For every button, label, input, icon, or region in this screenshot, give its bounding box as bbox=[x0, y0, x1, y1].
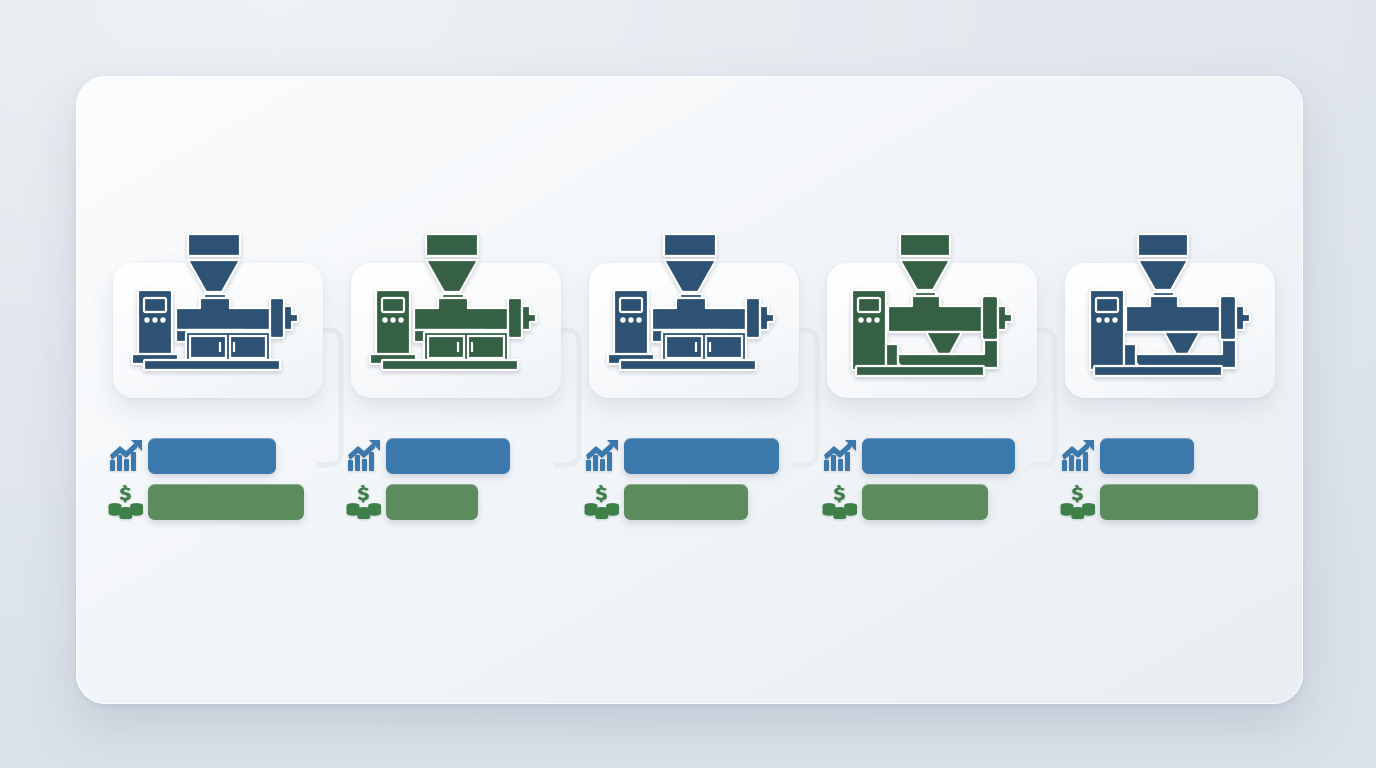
stage-2-cost-row bbox=[342, 483, 478, 521]
growth-chart-icon bbox=[1056, 437, 1100, 475]
money-coins-icon bbox=[818, 483, 862, 521]
stage-4-cost-bar bbox=[862, 484, 988, 520]
stage-5-rate-row bbox=[1056, 437, 1194, 475]
stage-3-cost-row bbox=[580, 483, 748, 521]
growth-chart-icon bbox=[580, 437, 624, 475]
extruder-machine-icon bbox=[358, 232, 554, 384]
stage-1-cost-bar bbox=[148, 484, 304, 520]
stage-3-group[interactable] bbox=[580, 0, 820, 768]
stage-3-metrics bbox=[580, 437, 820, 527]
stage-5-cost-bar bbox=[1100, 484, 1258, 520]
stage-2-cost-bar bbox=[386, 484, 478, 520]
stage-3-rate-row bbox=[580, 437, 779, 475]
growth-chart-icon bbox=[104, 437, 148, 475]
stage-2-group[interactable] bbox=[342, 0, 582, 768]
extruder-machine-icon bbox=[596, 232, 792, 384]
stage-3-cost-bar bbox=[624, 484, 748, 520]
money-coins-icon bbox=[580, 483, 624, 521]
extruder-machine-hose-icon bbox=[834, 232, 1030, 384]
stage-4-rate-row bbox=[818, 437, 1015, 475]
stage-1-rate-bar bbox=[148, 438, 276, 474]
stage-5-group[interactable] bbox=[1056, 0, 1296, 768]
stage-3-rate-bar bbox=[624, 438, 779, 474]
stage-1-group[interactable] bbox=[104, 0, 344, 768]
stage-4-metrics bbox=[818, 437, 1058, 527]
infographic-canvas bbox=[0, 0, 1376, 768]
stage-2-rate-row bbox=[342, 437, 510, 475]
extruder-machine-icon bbox=[120, 232, 316, 384]
money-coins-icon bbox=[1056, 483, 1100, 521]
stage-2-metrics bbox=[342, 437, 582, 527]
stage-1-cost-row bbox=[104, 483, 304, 521]
money-coins-icon bbox=[104, 483, 148, 521]
stage-5-metrics bbox=[1056, 437, 1296, 527]
growth-chart-icon bbox=[342, 437, 386, 475]
stage-1-metrics bbox=[104, 437, 344, 527]
money-coins-icon bbox=[342, 483, 386, 521]
stage-4-cost-row bbox=[818, 483, 988, 521]
stage-5-rate-bar bbox=[1100, 438, 1194, 474]
growth-chart-icon bbox=[818, 437, 862, 475]
stage-1-rate-row bbox=[104, 437, 276, 475]
stage-4-rate-bar bbox=[862, 438, 1015, 474]
stage-2-rate-bar bbox=[386, 438, 510, 474]
stage-5-cost-row bbox=[1056, 483, 1258, 521]
extruder-machine-hose-icon bbox=[1072, 232, 1268, 384]
stage-4-group[interactable] bbox=[818, 0, 1058, 768]
